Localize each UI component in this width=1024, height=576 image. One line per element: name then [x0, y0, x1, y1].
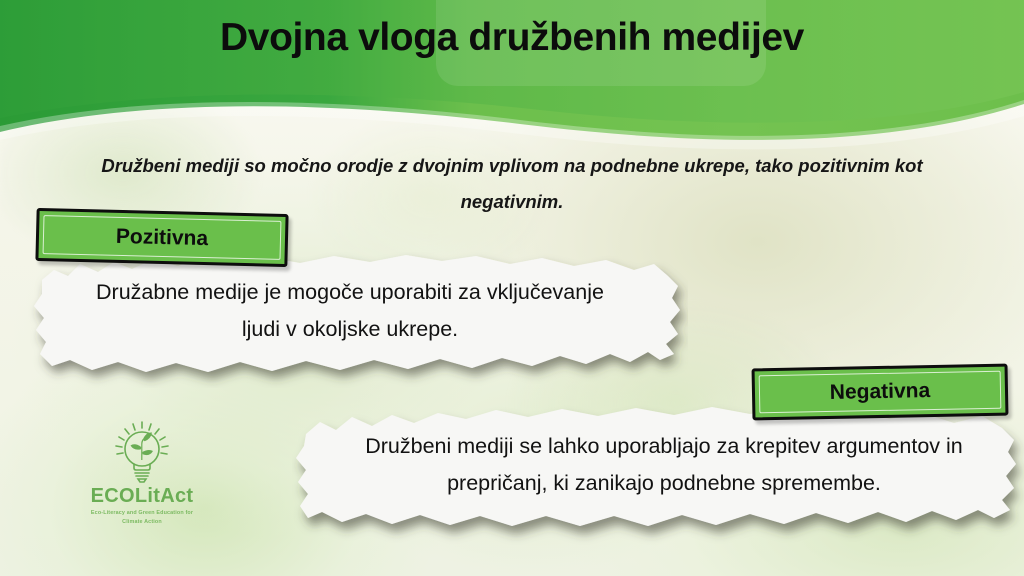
page-title: Dvojna vloga družbenih medijev	[0, 16, 1024, 60]
logo-wordmark: ECOLitAct	[62, 485, 222, 508]
positive-body-text: Družabne medije je mogoče uporabiti za v…	[80, 274, 620, 347]
slide-canvas: Dvojna vloga družbenih medijev Družbeni …	[0, 0, 1024, 576]
badge-positive-label: Pozitivna	[116, 224, 209, 250]
badge-negative[interactable]: Negativna	[752, 364, 1009, 421]
badge-positive[interactable]: Pozitivna	[35, 208, 288, 267]
negative-text-card: Družbeni mediji se lahko uporabljajo za …	[292, 404, 1024, 550]
ecolitact-logo: ECOLitAct Eco-Literacy and Green Educati…	[62, 420, 222, 526]
logo-tagline-line2: Climate Action	[62, 518, 222, 526]
negative-body-text: Družbeni mediji se lahko uporabljajo za …	[318, 428, 1010, 501]
slide-subtitle: Družbeni mediji so močno orodje z dvojni…	[80, 148, 944, 220]
badge-negative-label: Negativna	[830, 379, 931, 405]
lightbulb-plant-icon	[96, 420, 188, 484]
positive-text-card: Družabne medije je mogoče uporabiti za v…	[28, 252, 688, 388]
logo-tagline-line1: Eco-Literacy and Green Education for	[62, 509, 222, 517]
